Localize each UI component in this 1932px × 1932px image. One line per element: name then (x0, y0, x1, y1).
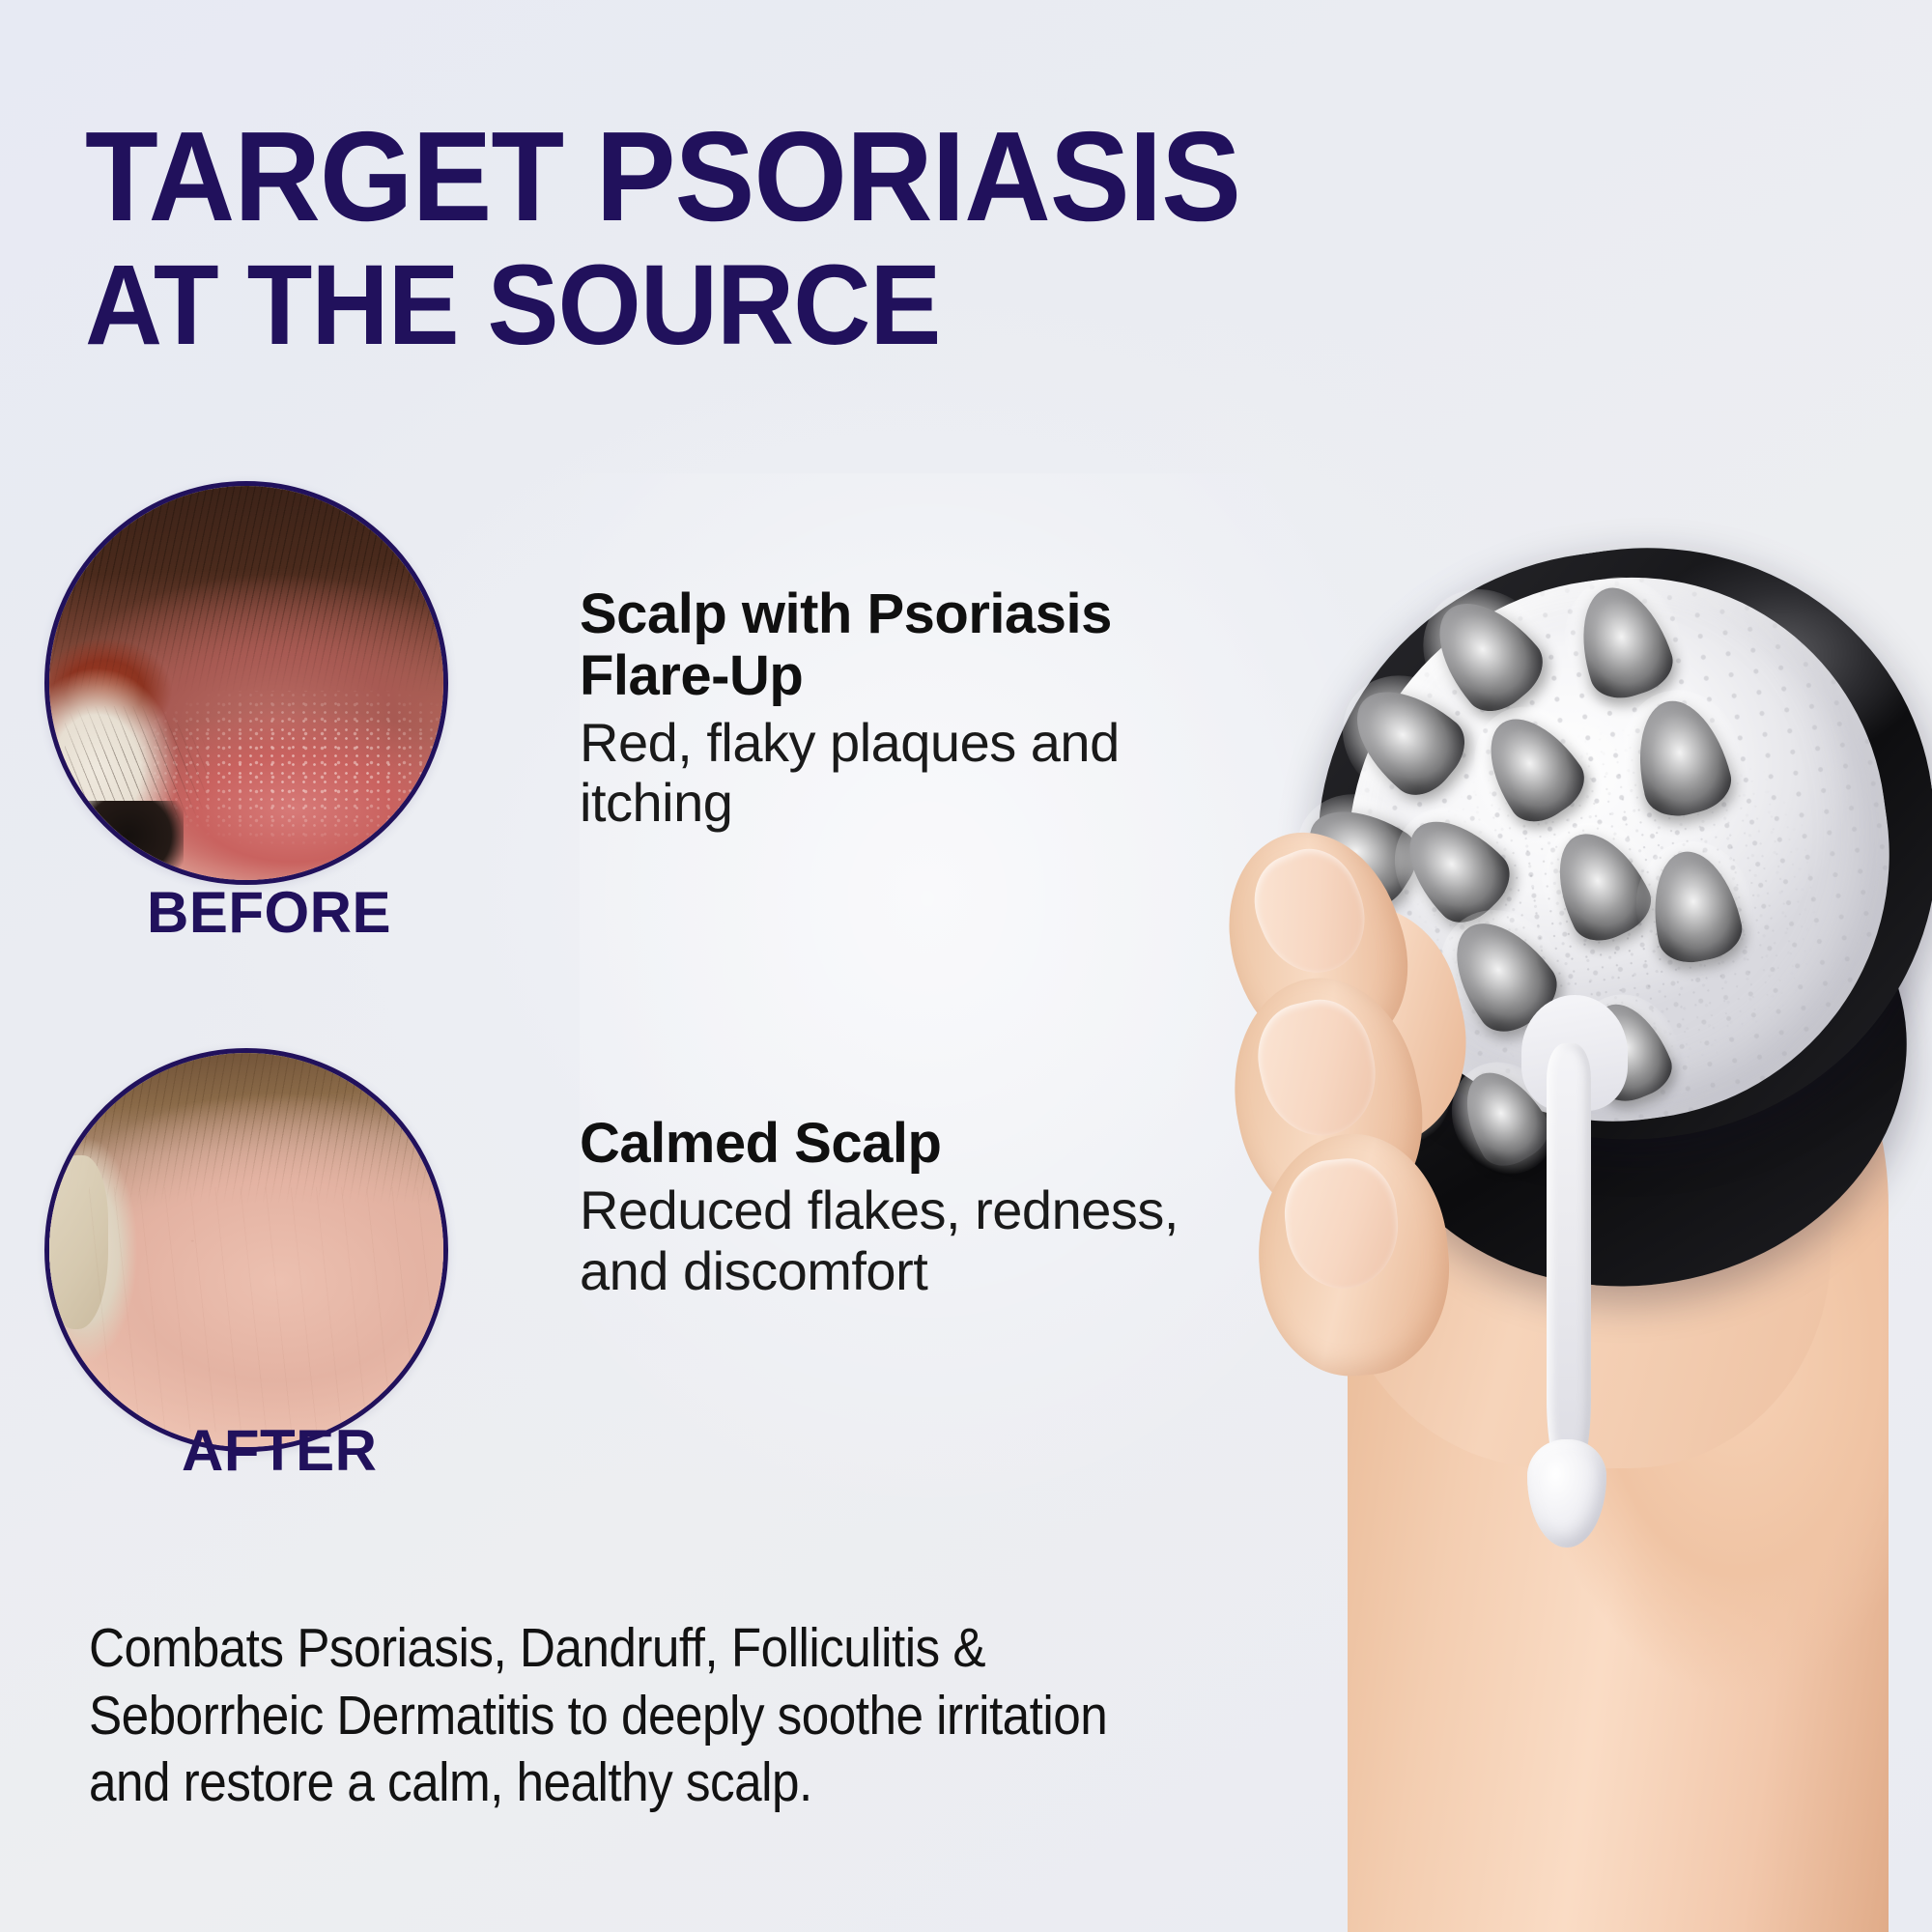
feature-block-before: Scalp with Psoriasis Flare-Up Red, flaky… (580, 583, 1207, 834)
page-title: TARGET PSORIASIS AT THE SOURCE (85, 114, 1534, 362)
bottom-description: Combats Psoriasis, Dandruff, Folliculiti… (89, 1615, 1115, 1817)
before-label: BEFORE (147, 884, 391, 942)
brush-bristle (1624, 691, 1737, 823)
feature-block-after: Calmed Scalp Reduced flakes, redness, an… (580, 1113, 1207, 1301)
after-label: AFTER (182, 1422, 377, 1480)
headline-line-2: AT THE SOURCE (85, 250, 1447, 362)
promo-image-canvas: TARGET PSORIASIS AT THE SOURCE BEFORE AF… (0, 0, 1932, 1932)
after-scalp-image (49, 1053, 443, 1447)
headline-line-1: TARGET PSORIASIS (85, 114, 1447, 239)
feature-2-heading: Calmed Scalp (580, 1113, 1207, 1175)
feature-1-heading: Scalp with Psoriasis Flare-Up (580, 583, 1207, 707)
before-photo-circle (44, 481, 448, 885)
dark-hair-texture (44, 481, 448, 706)
after-photo-circle (44, 1048, 448, 1452)
feature-2-body: Reduced flakes, redness, and discomfort (580, 1180, 1207, 1301)
calm-skin-texture (89, 1187, 448, 1432)
foam-drip-stream (1547, 1043, 1591, 1488)
background-shadow-blob (72, 801, 183, 885)
brush-bristle (1641, 843, 1747, 969)
before-scalp-image (49, 486, 443, 880)
product-image (1203, 541, 1932, 1932)
feature-1-body: Red, flaky plaques and itching (580, 713, 1207, 834)
